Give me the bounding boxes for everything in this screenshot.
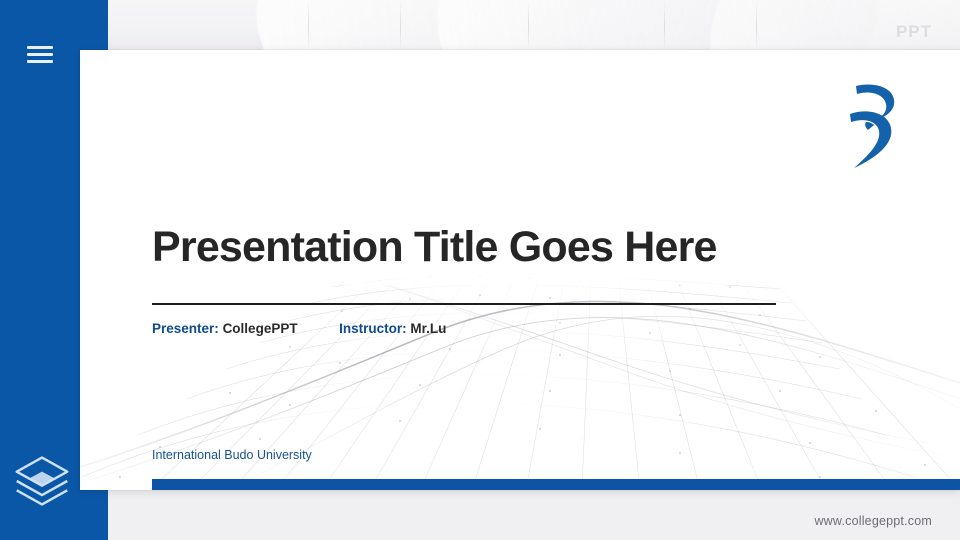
instructor-label: Instructor: <box>339 321 407 336</box>
slide-title: Presentation Title Goes Here <box>152 223 717 272</box>
presentation-slide[interactable]: Presentation Title Goes Here Presenter: … <box>80 50 960 490</box>
budo-b-logo-icon <box>836 80 908 170</box>
band-streak <box>756 0 757 50</box>
presenter-value: CollegePPT <box>223 321 298 336</box>
presenter-label: Presenter: <box>152 321 219 336</box>
hamburger-bar <box>27 46 53 49</box>
slide-bottom-accent-bar <box>152 479 960 490</box>
band-streak <box>528 0 529 50</box>
stacked-layers-icon[interactable] <box>12 452 72 510</box>
title-divider-rule <box>152 303 776 305</box>
hamburger-menu-icon[interactable] <box>27 44 53 66</box>
top-decorative-band: PPT <box>108 0 960 50</box>
slide-byline: Presenter: CollegePPT Instructor: Mr.Lu <box>152 321 446 336</box>
band-streak <box>400 0 401 50</box>
site-watermark: www.collegeppt.com <box>814 514 932 528</box>
band-streak <box>308 0 309 50</box>
hamburger-bar <box>27 53 53 56</box>
band-streak <box>664 0 665 50</box>
band-watermark-text: PPT <box>896 22 932 42</box>
slide-viewer-window: PPT <box>0 0 960 540</box>
instructor-value: Mr.Lu <box>410 321 446 336</box>
slide-footer-organization: International Budo University <box>152 448 312 462</box>
hamburger-bar <box>27 60 53 63</box>
